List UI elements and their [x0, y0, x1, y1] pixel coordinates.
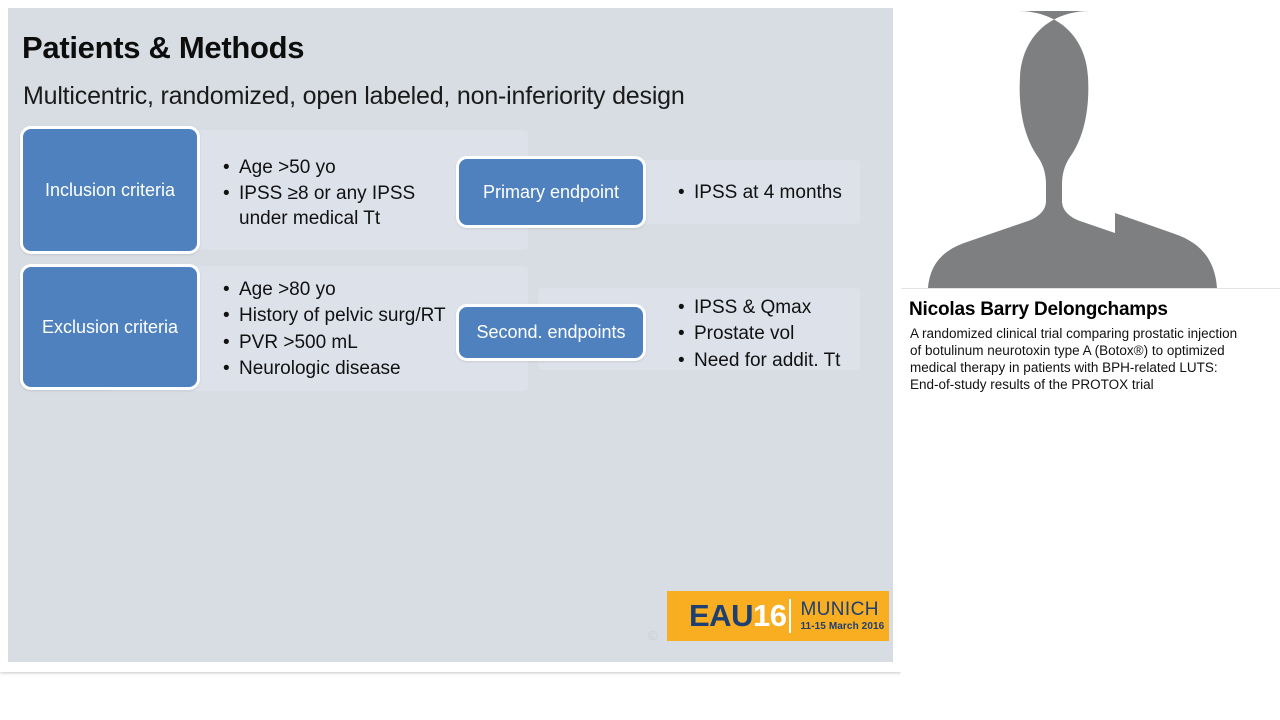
list-item: Age >80 yo [221, 278, 471, 302]
exclusion-criteria-label: Exclusion criteria [42, 317, 178, 338]
list-item: Prostate vol [676, 322, 876, 346]
person-placeholder-icon [901, 0, 1280, 288]
copyright-icon: © [648, 628, 658, 643]
eau-logo-acronym-text: EAU [689, 598, 753, 633]
exclusion-criteria-box: Exclusion criteria [20, 264, 200, 390]
primary-endpoint-label: Primary endpoint [483, 182, 619, 203]
list-item: IPSS ≥8 or any IPSS under medical Tt [221, 182, 461, 231]
slide-canvas: Patients & Methods Multicentric, randomi… [8, 8, 893, 662]
speaker-name: Nicolas Barry Delongchamps [909, 299, 1168, 321]
slide-subtitle: Multicentric, randomized, open labeled, … [23, 82, 685, 111]
talk-title-line: of botulinum neurotoxin type A (Botox®) … [910, 342, 1272, 359]
eau16-logo: EAU16 MUNICH 11-15 March 2016 [667, 591, 889, 641]
list-item: Neurologic disease [221, 357, 471, 381]
list-item: IPSS & Qmax [676, 296, 876, 320]
inclusion-criteria-list: Age >50 yo IPSS ≥8 or any IPSS under med… [221, 156, 461, 233]
list-item: PVR >500 mL [221, 331, 471, 355]
list-item: IPSS at 4 months [676, 181, 876, 205]
talk-title-line: medical therapy in patients with BPH-rel… [910, 359, 1272, 376]
primary-endpoint-list: IPSS at 4 months [676, 181, 876, 207]
secondary-endpoints-list: IPSS & Qmax Prostate vol Need for addit.… [676, 296, 876, 375]
presentation-viewer: Patients & Methods Multicentric, randomi… [0, 0, 1280, 720]
eau-logo-year: 16 [753, 598, 786, 633]
eau-logo-location-block: MUNICH 11-15 March 2016 [800, 600, 884, 632]
panel-divider [901, 288, 1280, 289]
eau-logo-city: MUNICH [800, 600, 884, 619]
talk-title: A randomized clinical trial comparing pr… [910, 325, 1272, 394]
list-item: Need for addit. Tt [676, 349, 876, 373]
exclusion-criteria-list: Age >80 yo History of pelvic surg/RT PVR… [221, 278, 471, 383]
slide-title: Patients & Methods [22, 30, 304, 66]
talk-title-line: End-of-study results of the PROTOX trial [910, 376, 1272, 393]
eau-logo-dates: 11-15 March 2016 [800, 622, 884, 632]
avatar [901, 0, 1280, 288]
list-item: History of pelvic surg/RT [221, 304, 471, 328]
inclusion-criteria-label: Inclusion criteria [45, 180, 175, 201]
secondary-endpoints-label: Second. endpoints [476, 322, 625, 343]
secondary-endpoints-box: Second. endpoints [456, 304, 646, 361]
logo-divider [789, 599, 791, 633]
slide-frame: Patients & Methods Multicentric, randomi… [0, 0, 901, 672]
speaker-panel: Nicolas Barry Delongchamps A randomized … [901, 0, 1280, 720]
inclusion-criteria-box: Inclusion criteria [20, 126, 200, 254]
list-item: Age >50 yo [221, 156, 461, 180]
primary-endpoint-box: Primary endpoint [456, 156, 646, 228]
talk-title-line: A randomized clinical trial comparing pr… [910, 325, 1272, 342]
eau-logo-acronym: EAU16 [689, 598, 786, 634]
